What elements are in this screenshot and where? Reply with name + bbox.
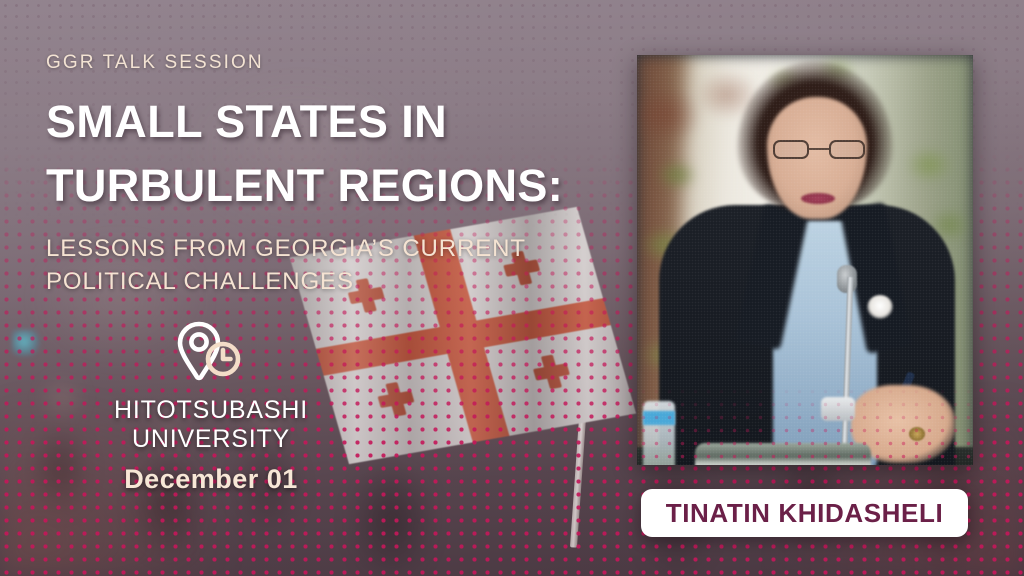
- title-line-2: TURBULENT REGIONS:: [46, 154, 606, 218]
- event-details: HITOTSUBASHI UNIVERSITY December 01: [46, 320, 376, 495]
- subtitle-line-2: POLITICAL CHALLENGES: [46, 265, 606, 298]
- page-title: SMALL STATES IN TURBULENT REGIONS:: [46, 90, 606, 218]
- portrait-halftone-edge: [637, 385, 973, 465]
- map-pin-clock-icon: [177, 320, 245, 382]
- title-line-1: SMALL STATES IN: [46, 90, 606, 154]
- speaker-name: TINATIN KHIDASHELI: [666, 498, 944, 529]
- venue-name: HITOTSUBASHI UNIVERSITY: [46, 396, 376, 454]
- event-date: December 01: [46, 464, 376, 495]
- subtitle-line-1: LESSONS FROM GEORGIA’S CURRENT: [46, 232, 606, 265]
- session-eyebrow: GGR TALK SESSION: [46, 52, 606, 74]
- event-poster: GGR TALK SESSION SMALL STATES IN TURBULE…: [0, 0, 1024, 576]
- speaker-name-banner: TINATIN KHIDASHELI: [641, 489, 968, 537]
- poster-copy: GGR TALK SESSION SMALL STATES IN TURBULE…: [46, 52, 606, 298]
- page-subtitle: LESSONS FROM GEORGIA’S CURRENT POLITICAL…: [46, 232, 606, 298]
- speaker-portrait: [637, 55, 973, 465]
